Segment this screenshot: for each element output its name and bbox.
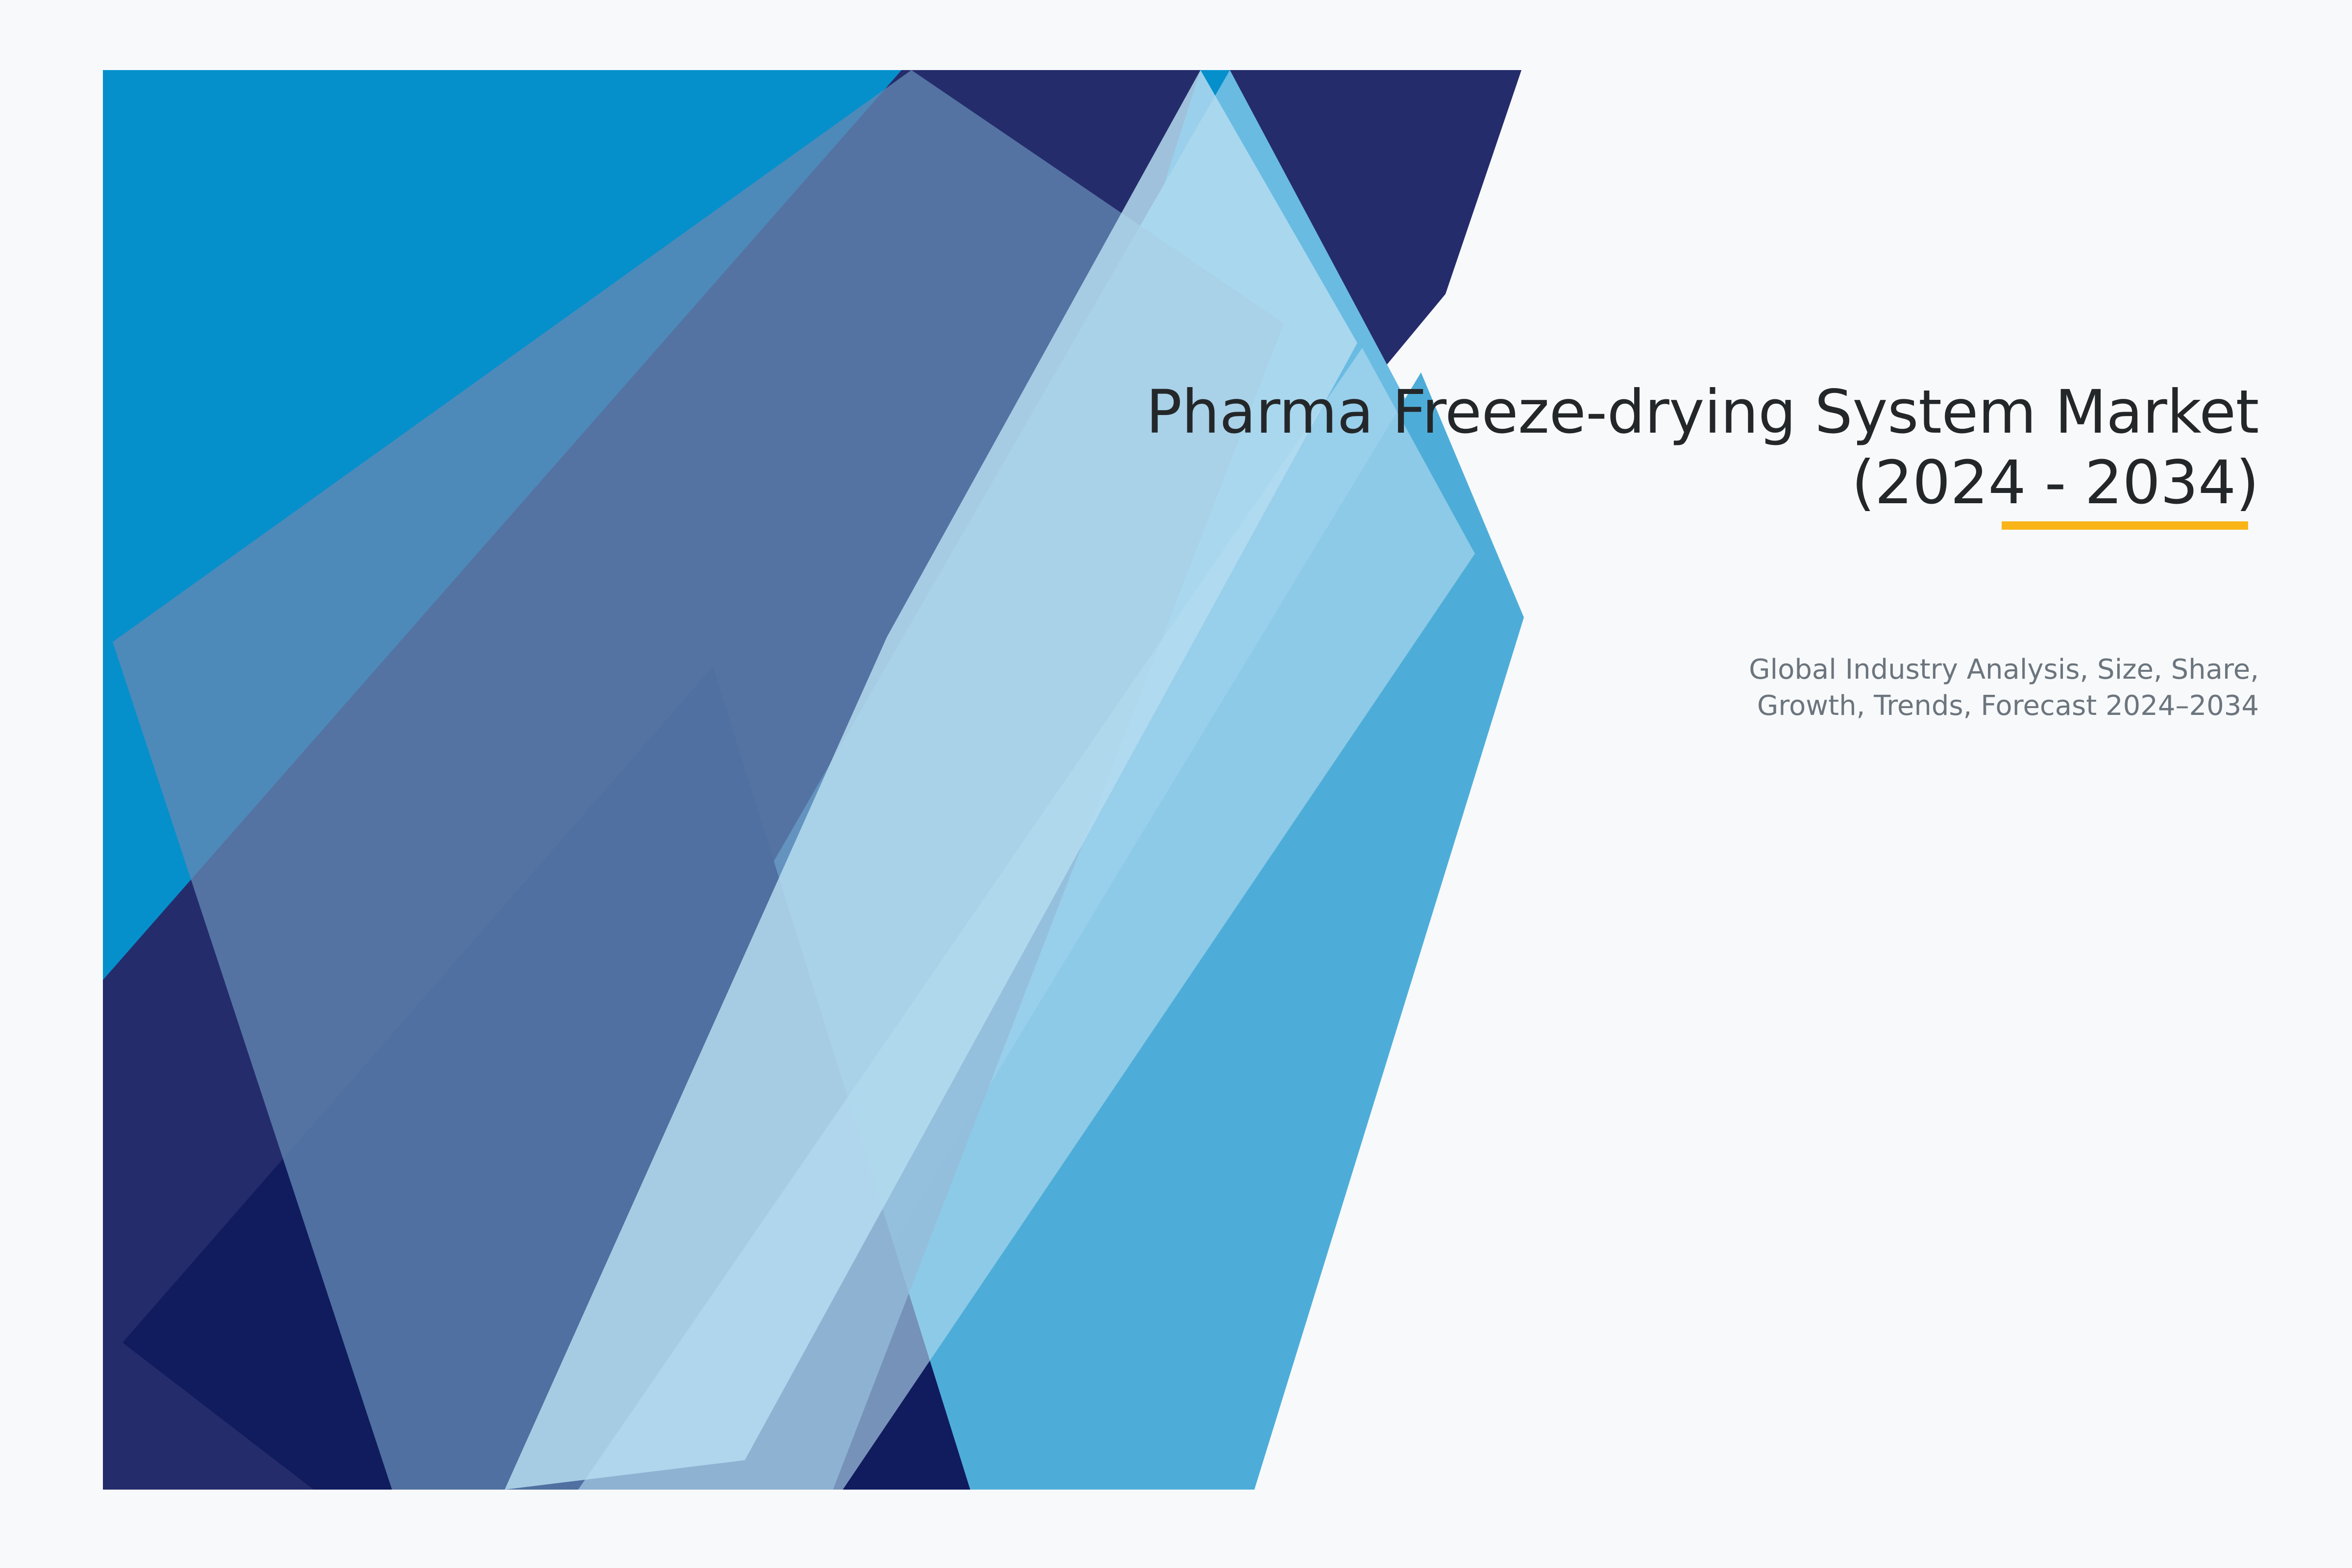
title-block: Pharma Freeze-drying System Market (2024… [735, 377, 2259, 518]
title-accent-rule [2002, 521, 2248, 530]
report-cover-page: Pharma Freeze-drying System Market (2024… [0, 0, 2352, 1568]
page-title: Pharma Freeze-drying System Market (2024… [735, 377, 2259, 518]
cover-text-layer: Pharma Freeze-drying System Market (2024… [0, 0, 2352, 1568]
subtitle-block: Global Industry Analysis, Size, Share, G… [1421, 652, 2259, 724]
page-subtitle: Global Industry Analysis, Size, Share, G… [1421, 652, 2259, 724]
